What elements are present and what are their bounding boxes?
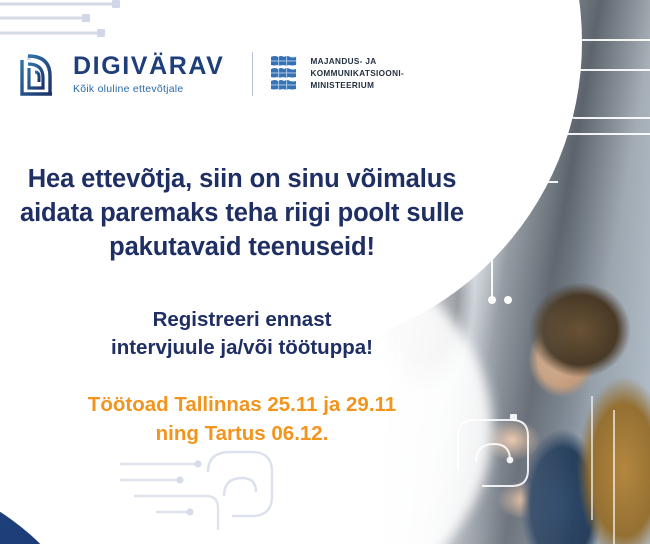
dates-block: Töötoad Tallinnas 25.11 ja 29.11 ning Ta… <box>0 390 484 448</box>
dates-line-1: Töötoad Tallinnas 25.11 ja 29.11 <box>0 390 484 419</box>
ministry-line-3: Ministeerium <box>310 80 404 92</box>
logo-divider <box>252 52 253 96</box>
headline-line-1: Hea ettevõtja, siin on sinu võimalus <box>0 163 484 197</box>
headline-line-3: pakutavaid teenuseid! <box>0 231 484 265</box>
digivarav-wordmark: DIGIVÄRAV <box>73 54 224 79</box>
digivarav-tagline: Kõik oluline ettevõtjale <box>73 84 224 95</box>
subheading: Registreeri ennast intervjuule ja/või tö… <box>0 306 484 363</box>
ministry-line-2: Kommunikatsiooni- <box>310 68 404 80</box>
ministry-name: Majandus- ja Kommunikatsiooni- Ministeer… <box>310 56 404 92</box>
digivarav-spiral-mark-icon <box>16 50 62 98</box>
subheading-line-2: intervjuule ja/või töötuppa! <box>0 334 484 362</box>
digivarav-logo[interactable]: DIGIVÄRAV Kõik oluline ettevõtjale <box>16 50 224 98</box>
ministry-line-1: Majandus- ja <box>310 56 404 68</box>
dates-line-2: ning Tartus 06.12. <box>0 419 484 448</box>
ministry-logo[interactable]: Majandus- ja Kommunikatsiooni- Ministeer… <box>269 54 404 94</box>
subheading-line-1: Registreeri ennast <box>0 306 484 334</box>
headline-line-2: aidata paremaks teha riigi poolt sulle <box>0 197 484 231</box>
estonian-coat-of-arms-three-lions-icon <box>269 54 299 94</box>
headline: Hea ettevõtja, siin on sinu võimalus aid… <box>0 163 484 265</box>
poster-canvas: DIGIVÄRAV Kõik oluline ettevõtjale <box>0 0 650 544</box>
logo-row: DIGIVÄRAV Kõik oluline ettevõtjale <box>16 50 404 98</box>
